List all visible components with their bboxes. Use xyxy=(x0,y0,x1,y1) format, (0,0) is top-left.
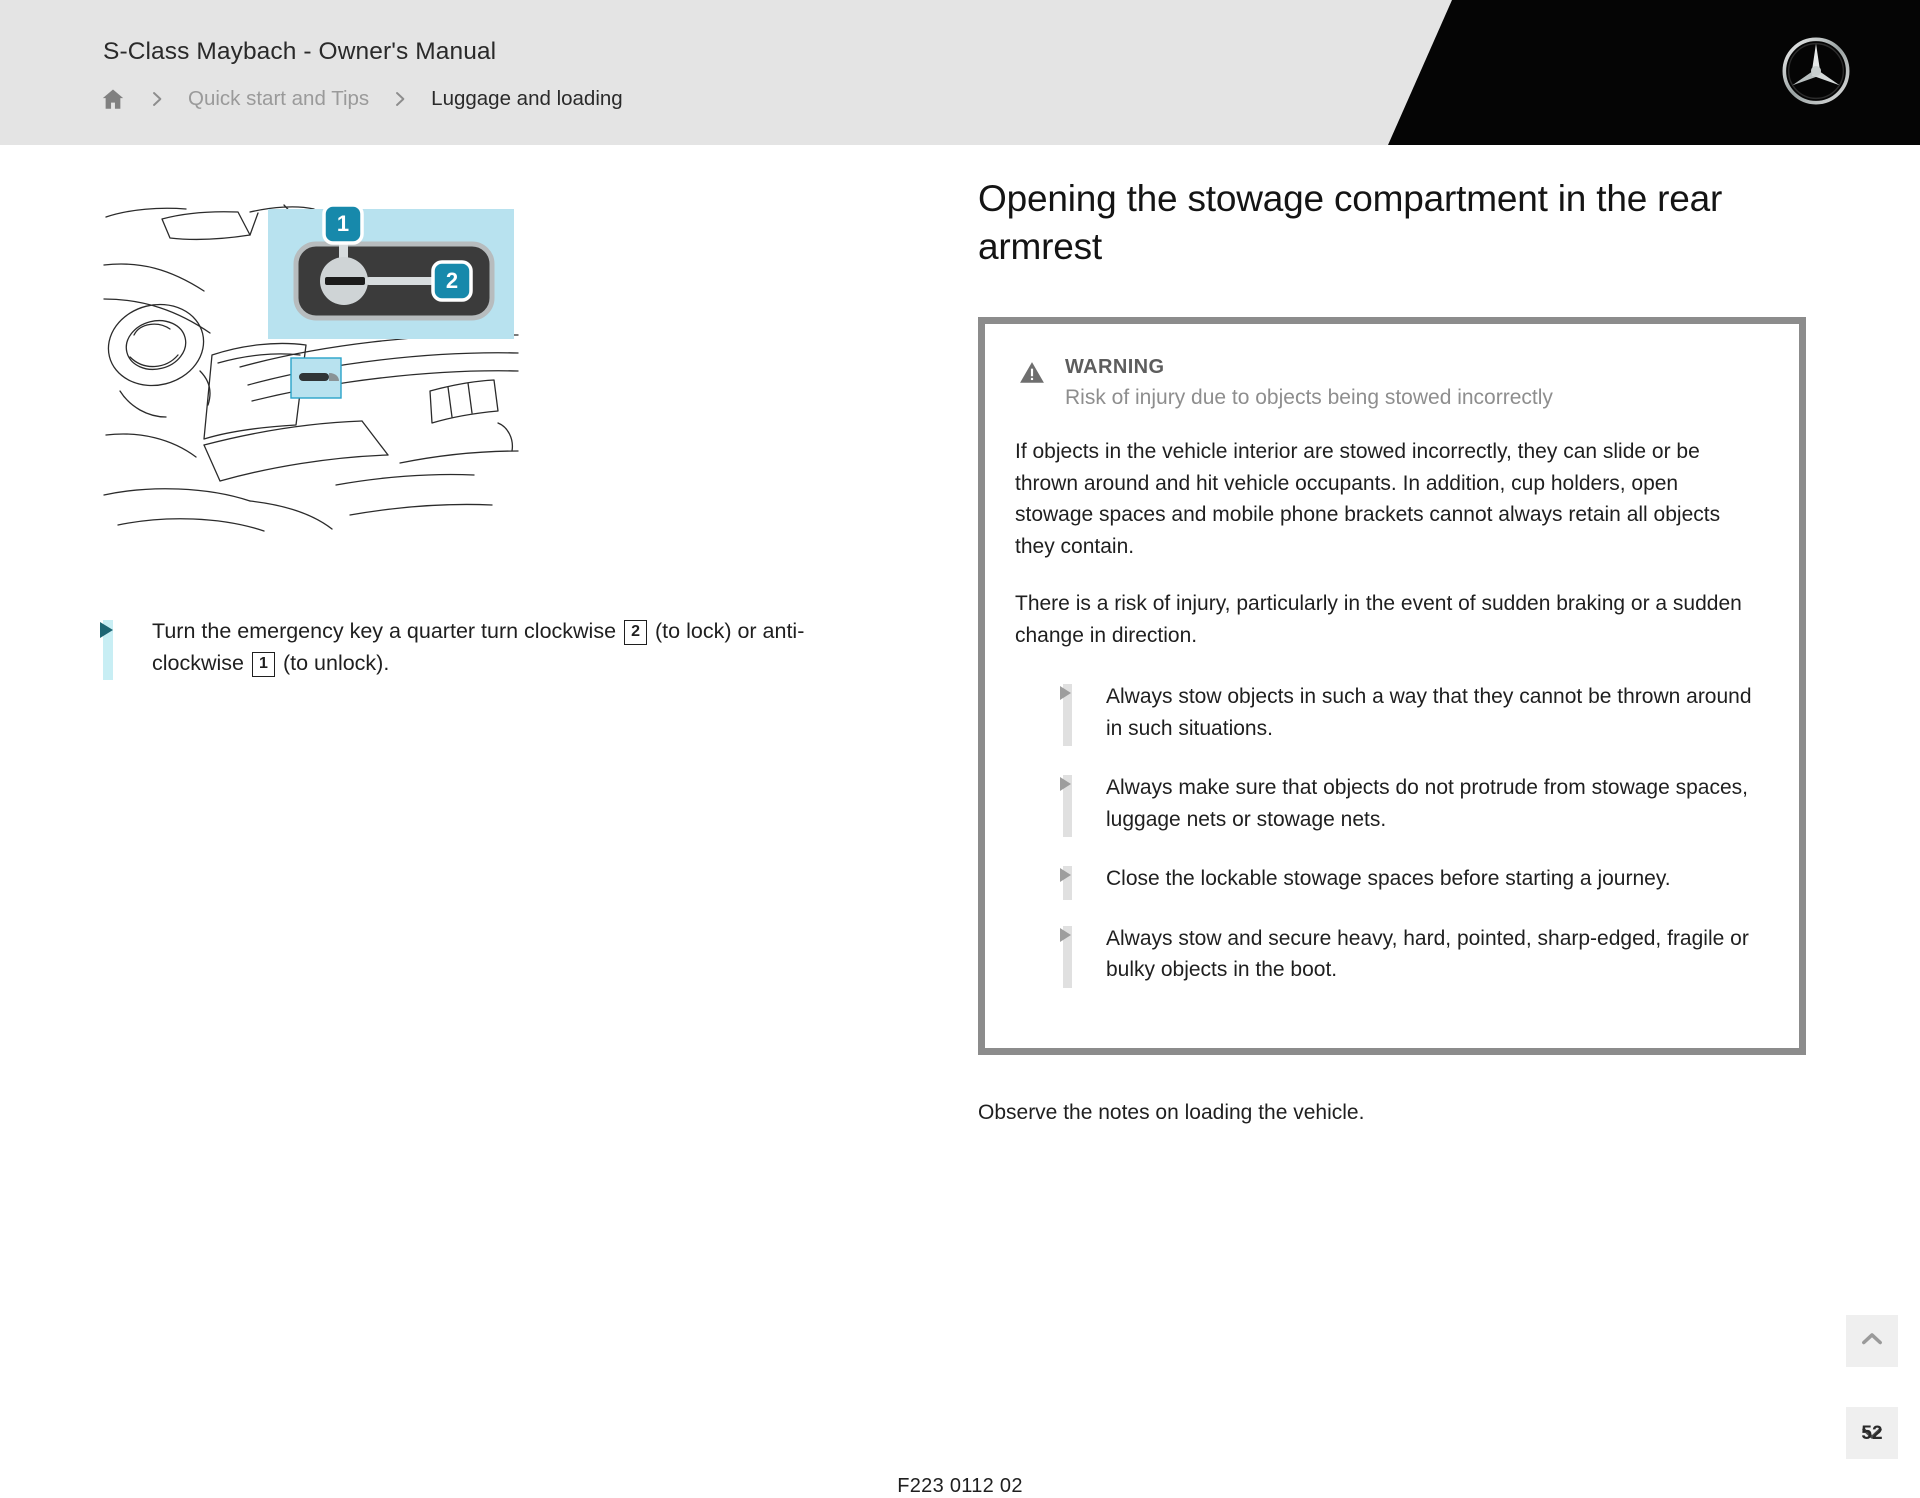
illustration-callout-2: 2 xyxy=(433,262,471,300)
warning-paragraph: There is a risk of injury, particularly … xyxy=(1015,588,1760,651)
page-title: Opening the stowage compartment in the r… xyxy=(978,175,1808,271)
list-item-text: Close the lockable stowage spaces before… xyxy=(1106,863,1671,895)
warning-header: WARNING Risk of injury due to objects be… xyxy=(1015,354,1769,414)
page-header-title: S-Class Maybach - Owner's Manual xyxy=(103,38,496,66)
list-item-text: Always stow objects in such a way that t… xyxy=(1106,681,1766,744)
list-item-text: Always make sure that objects do not pro… xyxy=(1106,772,1766,835)
breadcrumb-item-quick-start[interactable]: Quick start and Tips xyxy=(188,87,369,111)
inline-callout-1: 1 xyxy=(252,652,275,677)
triangle-bullet-icon xyxy=(1060,926,1074,986)
warning-triangle-icon xyxy=(1019,360,1045,386)
breadcrumb: Quick start and Tips Luggage and loading xyxy=(100,82,645,116)
triangle-bullet-icon xyxy=(1060,775,1074,835)
page-header: S-Class Maybach - Owner's Manual Quick s… xyxy=(0,0,1920,145)
vehicle-interior-emergency-key-illustration: 1 2 xyxy=(100,195,520,545)
list-item: Always make sure that objects do not pro… xyxy=(1015,772,1769,835)
chevron-right-icon xyxy=(391,86,409,112)
page-jump-button[interactable]: 52 xyxy=(1846,1407,1898,1459)
mercedes-benz-star-logo xyxy=(1780,35,1852,107)
scroll-to-top-button[interactable] xyxy=(1846,1315,1898,1367)
after-warning-note: Observe the notes on loading the vehicle… xyxy=(978,1097,1808,1128)
page-number-label: 52 xyxy=(1861,1424,1882,1443)
chevron-right-icon xyxy=(148,86,166,112)
illustration-callout-1: 1 xyxy=(324,205,362,243)
warning-paragraph: If objects in the vehicle interior are s… xyxy=(1015,436,1760,562)
warning-label: WARNING xyxy=(1065,354,1769,380)
inline-callout-2: 2 xyxy=(624,620,647,645)
instruction-step-text: Turn the emergency key a quarter turn cl… xyxy=(152,615,862,679)
triangle-bullet-icon xyxy=(1060,866,1074,895)
instruction-text-after: (to unlock). xyxy=(283,651,389,675)
svg-text:1: 1 xyxy=(337,211,349,236)
warning-box: WARNING Risk of injury due to objects be… xyxy=(978,317,1806,1055)
instruction-step: Turn the emergency key a quarter turn cl… xyxy=(100,615,900,679)
list-item: Always stow and secure heavy, hard, poin… xyxy=(1015,923,1769,986)
right-column: Opening the stowage compartment in the r… xyxy=(978,175,1808,1128)
svg-text:2: 2 xyxy=(446,268,458,293)
chevron-up-icon xyxy=(1858,1325,1886,1358)
triangle-bullet-icon xyxy=(100,620,116,679)
list-item: Close the lockable stowage spaces before… xyxy=(1015,863,1769,895)
home-icon[interactable] xyxy=(100,86,126,112)
warning-subtitle: Risk of injury due to objects being stow… xyxy=(1065,382,1769,414)
instruction-text-before: Turn the emergency key a quarter turn cl… xyxy=(152,619,616,643)
figure-caption: F223 0112 02 xyxy=(0,1475,1920,1498)
breadcrumb-item-luggage-and-loading[interactable]: Luggage and loading xyxy=(431,87,623,111)
triangle-bullet-icon xyxy=(1060,684,1074,744)
list-item: Always stow objects in such a way that t… xyxy=(1015,681,1769,744)
page-content: 1 2 Turn the emergency key a quarter tur… xyxy=(0,145,1920,1358)
warning-bullet-list: Always stow objects in such a way that t… xyxy=(1015,681,1769,986)
list-item-text: Always stow and secure heavy, hard, poin… xyxy=(1106,923,1766,986)
